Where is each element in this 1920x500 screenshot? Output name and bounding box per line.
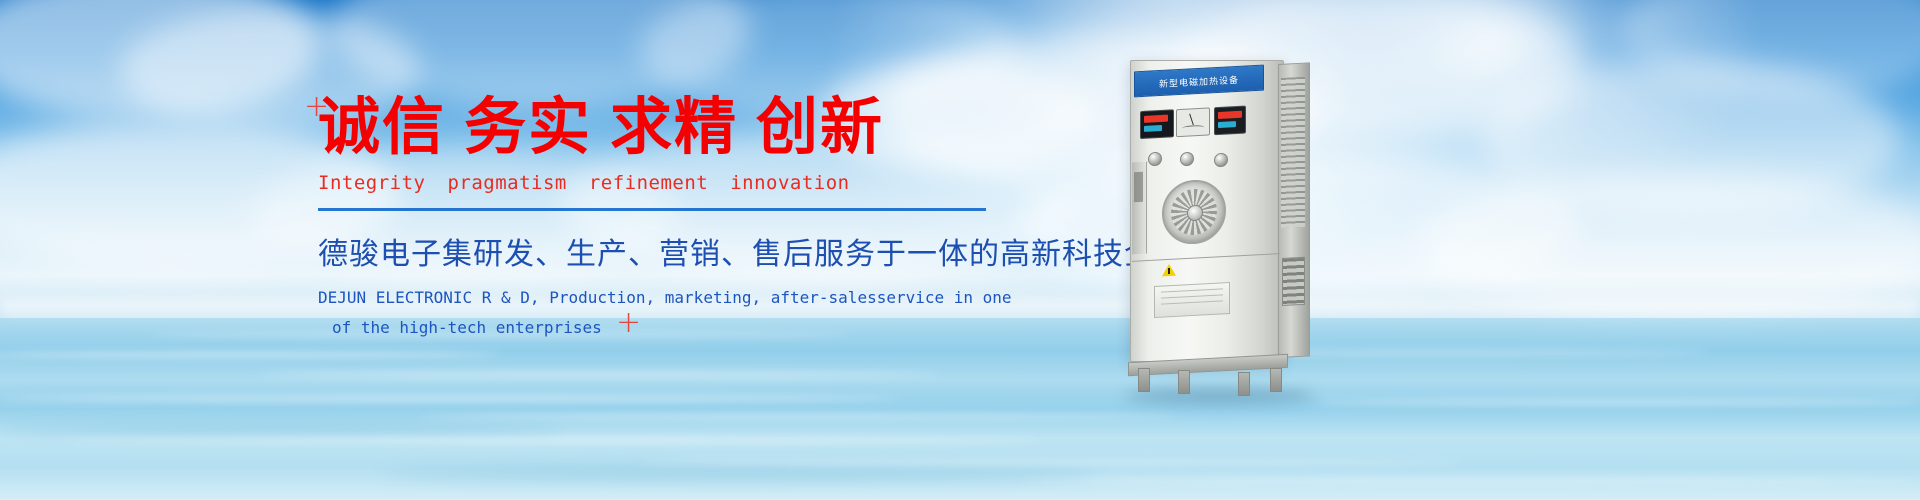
cloud-shape <box>1420 170 1920 320</box>
headline-word-4: 创新 <box>756 90 884 163</box>
subtitle-word-2: pragmatism <box>447 172 566 194</box>
promo-banner: + + 诚信务实求精创新 Integritypragmatismrefineme… <box>0 0 1920 500</box>
water-streak <box>420 414 1180 419</box>
water-streak <box>640 460 1460 465</box>
headline-word-1: 诚信 <box>318 90 446 163</box>
description-english: DEJUN ELECTRONIC R & D, Production, mark… <box>318 283 1018 342</box>
water-streak <box>0 352 500 357</box>
page-title: 诚信务实求精创新 <box>318 96 1018 158</box>
headline-word-2: 务实 <box>464 90 592 163</box>
subtitle-word-4: innovation <box>730 172 849 194</box>
subtitle-word-1: Integrity <box>318 172 425 194</box>
description-chinese: 德骏电子集研发、生产、营销、售后服务于一体的高新科技企业 <box>318 229 1018 273</box>
description-english-line-1: DEJUN ELECTRONIC R & D, Production, mark… <box>318 283 1018 313</box>
product-image: 新型电磁加热设备 <box>1118 52 1318 382</box>
machine-left-slot <box>1134 172 1143 202</box>
headline-word-3: 求精 <box>610 90 738 163</box>
machine-control-panel <box>1140 105 1258 145</box>
water-shadow <box>380 468 1100 480</box>
water-streak <box>60 438 1040 443</box>
warning-triangle-icon <box>1162 264 1176 277</box>
machine-louvers <box>1281 77 1305 228</box>
machine-foot <box>1178 370 1190 394</box>
water-streak <box>0 396 900 401</box>
description-english-line-2: of the high-tech enterprises <box>318 313 1018 343</box>
digital-display-1 <box>1140 109 1174 139</box>
machine-foot <box>1270 368 1282 392</box>
water-shadow <box>0 425 560 435</box>
product-label-text: 新型电磁加热设备 <box>1159 72 1239 89</box>
machine-foot <box>1138 368 1150 392</box>
water-streak <box>1020 478 1920 483</box>
machine-side-vent <box>1282 257 1305 306</box>
subtitle-word-3: refinement <box>589 172 708 194</box>
digital-display-2 <box>1214 106 1246 136</box>
machine-spec-plate <box>1154 282 1230 318</box>
analog-meter <box>1176 107 1210 137</box>
water-streak <box>1320 400 1920 405</box>
machine-foot <box>1238 372 1250 396</box>
water-streak <box>260 372 940 377</box>
divider <box>318 208 986 211</box>
banner-copy: 诚信务实求精创新 Integritypragmatismrefinementin… <box>318 96 1018 342</box>
subtitle-english: Integritypragmatismrefinementinnovation <box>318 172 1018 194</box>
product-shadow <box>1124 388 1314 404</box>
